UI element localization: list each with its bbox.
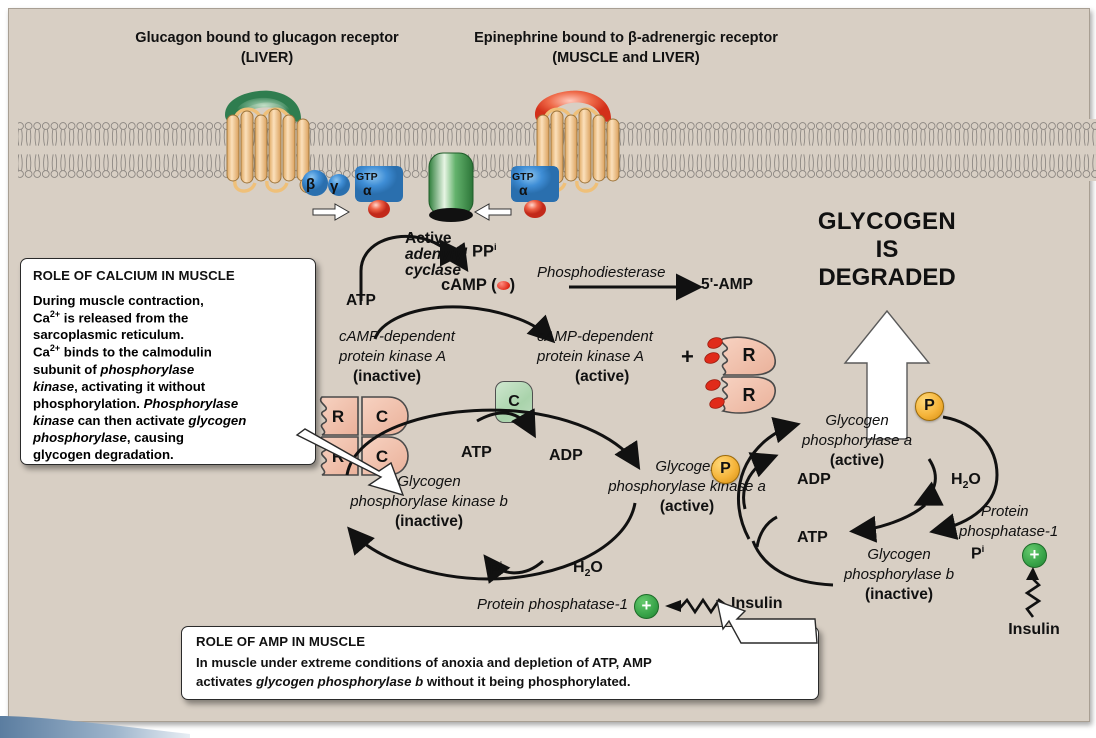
ppi-subscript: i (494, 242, 497, 253)
callout-calcium-line-2: sarcoplasmic reticulum. (33, 326, 309, 343)
pka-active-line1: cAMP-dependent (537, 329, 653, 345)
epinephrine-title-pre: Epinephrine bound to (474, 30, 628, 46)
callout-calcium-line-9: glycogen degradation. (33, 446, 309, 463)
atp-substrate-label: ATP (346, 293, 376, 310)
phosphorylase-b-line1: Glycogen (867, 547, 930, 563)
atp-feed-arc (757, 517, 777, 547)
pi-release-branch (855, 505, 925, 531)
callout-calcium: ROLE OF CALCIUM IN MUSCLE During muscle … (20, 258, 316, 465)
phosphorylase-a-line1: Glycogen (825, 413, 888, 429)
water-branch-arrow (919, 459, 935, 503)
ppi-label: PPi (472, 243, 497, 261)
g-gamma-label: γ (330, 179, 338, 195)
callout-calcium-line-0: During muscle contraction, (33, 292, 309, 309)
phosphorylase-a-state: (active) (830, 453, 884, 470)
callout-amp-line2-post: without it being phosphorylated. (423, 674, 630, 689)
corner-swoosh-decoration (0, 712, 200, 738)
g-alpha-label-right: α (519, 183, 528, 198)
pka-inactive-state: (inactive) (353, 369, 421, 386)
phosphorylase-cycle-pi: Pi (971, 545, 984, 563)
phosphorylase-a-line2: phosphorylase a (802, 433, 912, 449)
ppi-text: PP (472, 243, 494, 261)
amp-product-label: 5'-AMP (701, 277, 753, 294)
outcome-line1: GLYCOGEN (818, 209, 956, 235)
phosphorylase-b-line2: phosphorylase b (844, 567, 954, 583)
phosphorylase-b-return-arc (753, 541, 833, 585)
outcome-line2: IS (876, 237, 899, 263)
kinase-water-o: O (590, 559, 602, 576)
phosphorylase-cycle-adp: ADP (797, 471, 831, 488)
g-beta-label: β (306, 177, 315, 193)
outcome-line3: DEGRADED (818, 265, 955, 291)
g-alpha-label-left: α (363, 183, 372, 198)
callout-amp-line2-italic: glycogen phosphorylase b (256, 674, 423, 689)
adenylyl-cyclase-enzyme (429, 153, 473, 215)
adp-branch-arrow (744, 457, 773, 509)
callout-calcium-line-6: phosphorylation. Phosphorylase (33, 395, 309, 412)
kinase-b-state: (inactive) (395, 514, 463, 531)
camp-dot-icon (497, 281, 510, 290)
svg-text:R: R (743, 345, 756, 365)
phos-pi-text: P (971, 545, 982, 562)
callout-calcium-line-4: subunit of phosphorylase (33, 361, 309, 378)
phosphorylase-b-state: (inactive) (865, 587, 933, 604)
kinase-cycle-pi: Pi (489, 561, 502, 579)
kinase-cycle-water: H2O (573, 559, 603, 580)
insulin-signal-zigzag-right (1023, 567, 1047, 619)
kinase-pi-subscript: i (500, 560, 503, 571)
glucagon-header-title: Glucagon bound to glucagon receptor (135, 31, 398, 47)
pka-inactive-line2: protein kinase A (339, 349, 446, 365)
phosphodiesterase-label: Phosphodiesterase (537, 265, 665, 281)
insulin-activation-plus-left: + (634, 594, 659, 619)
insulin-activation-plus-right: + (1022, 543, 1047, 568)
pka-plus-sign: + (681, 345, 694, 369)
camp-paren-close: ) (510, 276, 516, 294)
phos-water-h: H (951, 471, 963, 488)
phosphorylase-phosphatase-line2: phosphatase-1 (959, 524, 1058, 540)
callout-calcium-line-8: phosphorylase, causing (33, 429, 309, 446)
kinase-a-state: (active) (660, 499, 714, 516)
kinase-pi-text: P (489, 561, 500, 578)
callout-calcium-body: During muscle contraction,Ca2+ is releas… (33, 292, 309, 463)
camp-paren-open: ( (491, 276, 497, 294)
epinephrine-header-title: Epinephrine bound to β-adrenergic recept… (474, 31, 778, 47)
callout-amp-pointer (709, 599, 849, 645)
callout-calcium-line-7: kinase can then activate glycogen (33, 412, 309, 429)
phos-pi-subscript: i (982, 544, 985, 555)
insulin-label-right: Insulin (1008, 621, 1060, 638)
kinase-cycle-adp: ADP (549, 447, 583, 464)
callout-amp-heading: ROLE OF AMP IN MUSCLE (196, 635, 365, 649)
kinase-cycle-atp: ATP (461, 444, 492, 461)
pka-active-line2: protein kinase A (537, 349, 644, 365)
kinase-water-h: H (573, 559, 585, 576)
callout-calcium-pointer (295, 429, 425, 501)
epinephrine-title-post: -adrenergic receptor (637, 30, 778, 46)
callout-amp-line2: activates glycogen phosphorylase b witho… (196, 674, 631, 690)
callout-amp-line1: In muscle under extreme conditions of an… (196, 655, 652, 671)
phosphorylase-cycle-water: H2O (951, 471, 981, 492)
pka-active-state: (active) (575, 369, 629, 386)
kinase-cycle-phosphatase-label: Protein phosphatase-1 (477, 597, 628, 613)
glucagon-header-subtitle: (LIVER) (241, 51, 293, 67)
callout-calcium-heading: ROLE OF CALCIUM IN MUSCLE (33, 269, 235, 283)
callout-calcium-line-1: Ca2+ is released from the (33, 309, 309, 326)
figure-canvas: Glucagon bound to glucagon receptor (LIV… (0, 0, 1096, 738)
beta-glyph: β (628, 30, 637, 46)
phosphorylase-phosphatase-line1: Protein (981, 504, 1029, 520)
callout-amp-line2-pre: activates (196, 674, 256, 689)
camp-label: cAMP () (441, 277, 515, 295)
atp-to-adp-arc (477, 413, 533, 433)
phosphorylase-cycle-atp: ATP (797, 529, 828, 546)
camp-text: cAMP (441, 276, 487, 294)
phos-water-o: O (968, 471, 980, 488)
callout-calcium-line-3: Ca2+ binds to the calmodulin (33, 343, 309, 360)
callout-calcium-line-5: kinase, activating it without (33, 378, 309, 395)
diagram-panel: Glucagon bound to glucagon receptor (LIV… (8, 8, 1090, 722)
pka-inactive-line1: cAMP-dependent (339, 329, 455, 345)
kinase-a-line1: Glycogen (655, 459, 718, 475)
phosphorylase-a-phosphate-badge: P (915, 392, 944, 421)
epinephrine-header-subtitle: (MUSCLE and LIVER) (552, 51, 699, 67)
